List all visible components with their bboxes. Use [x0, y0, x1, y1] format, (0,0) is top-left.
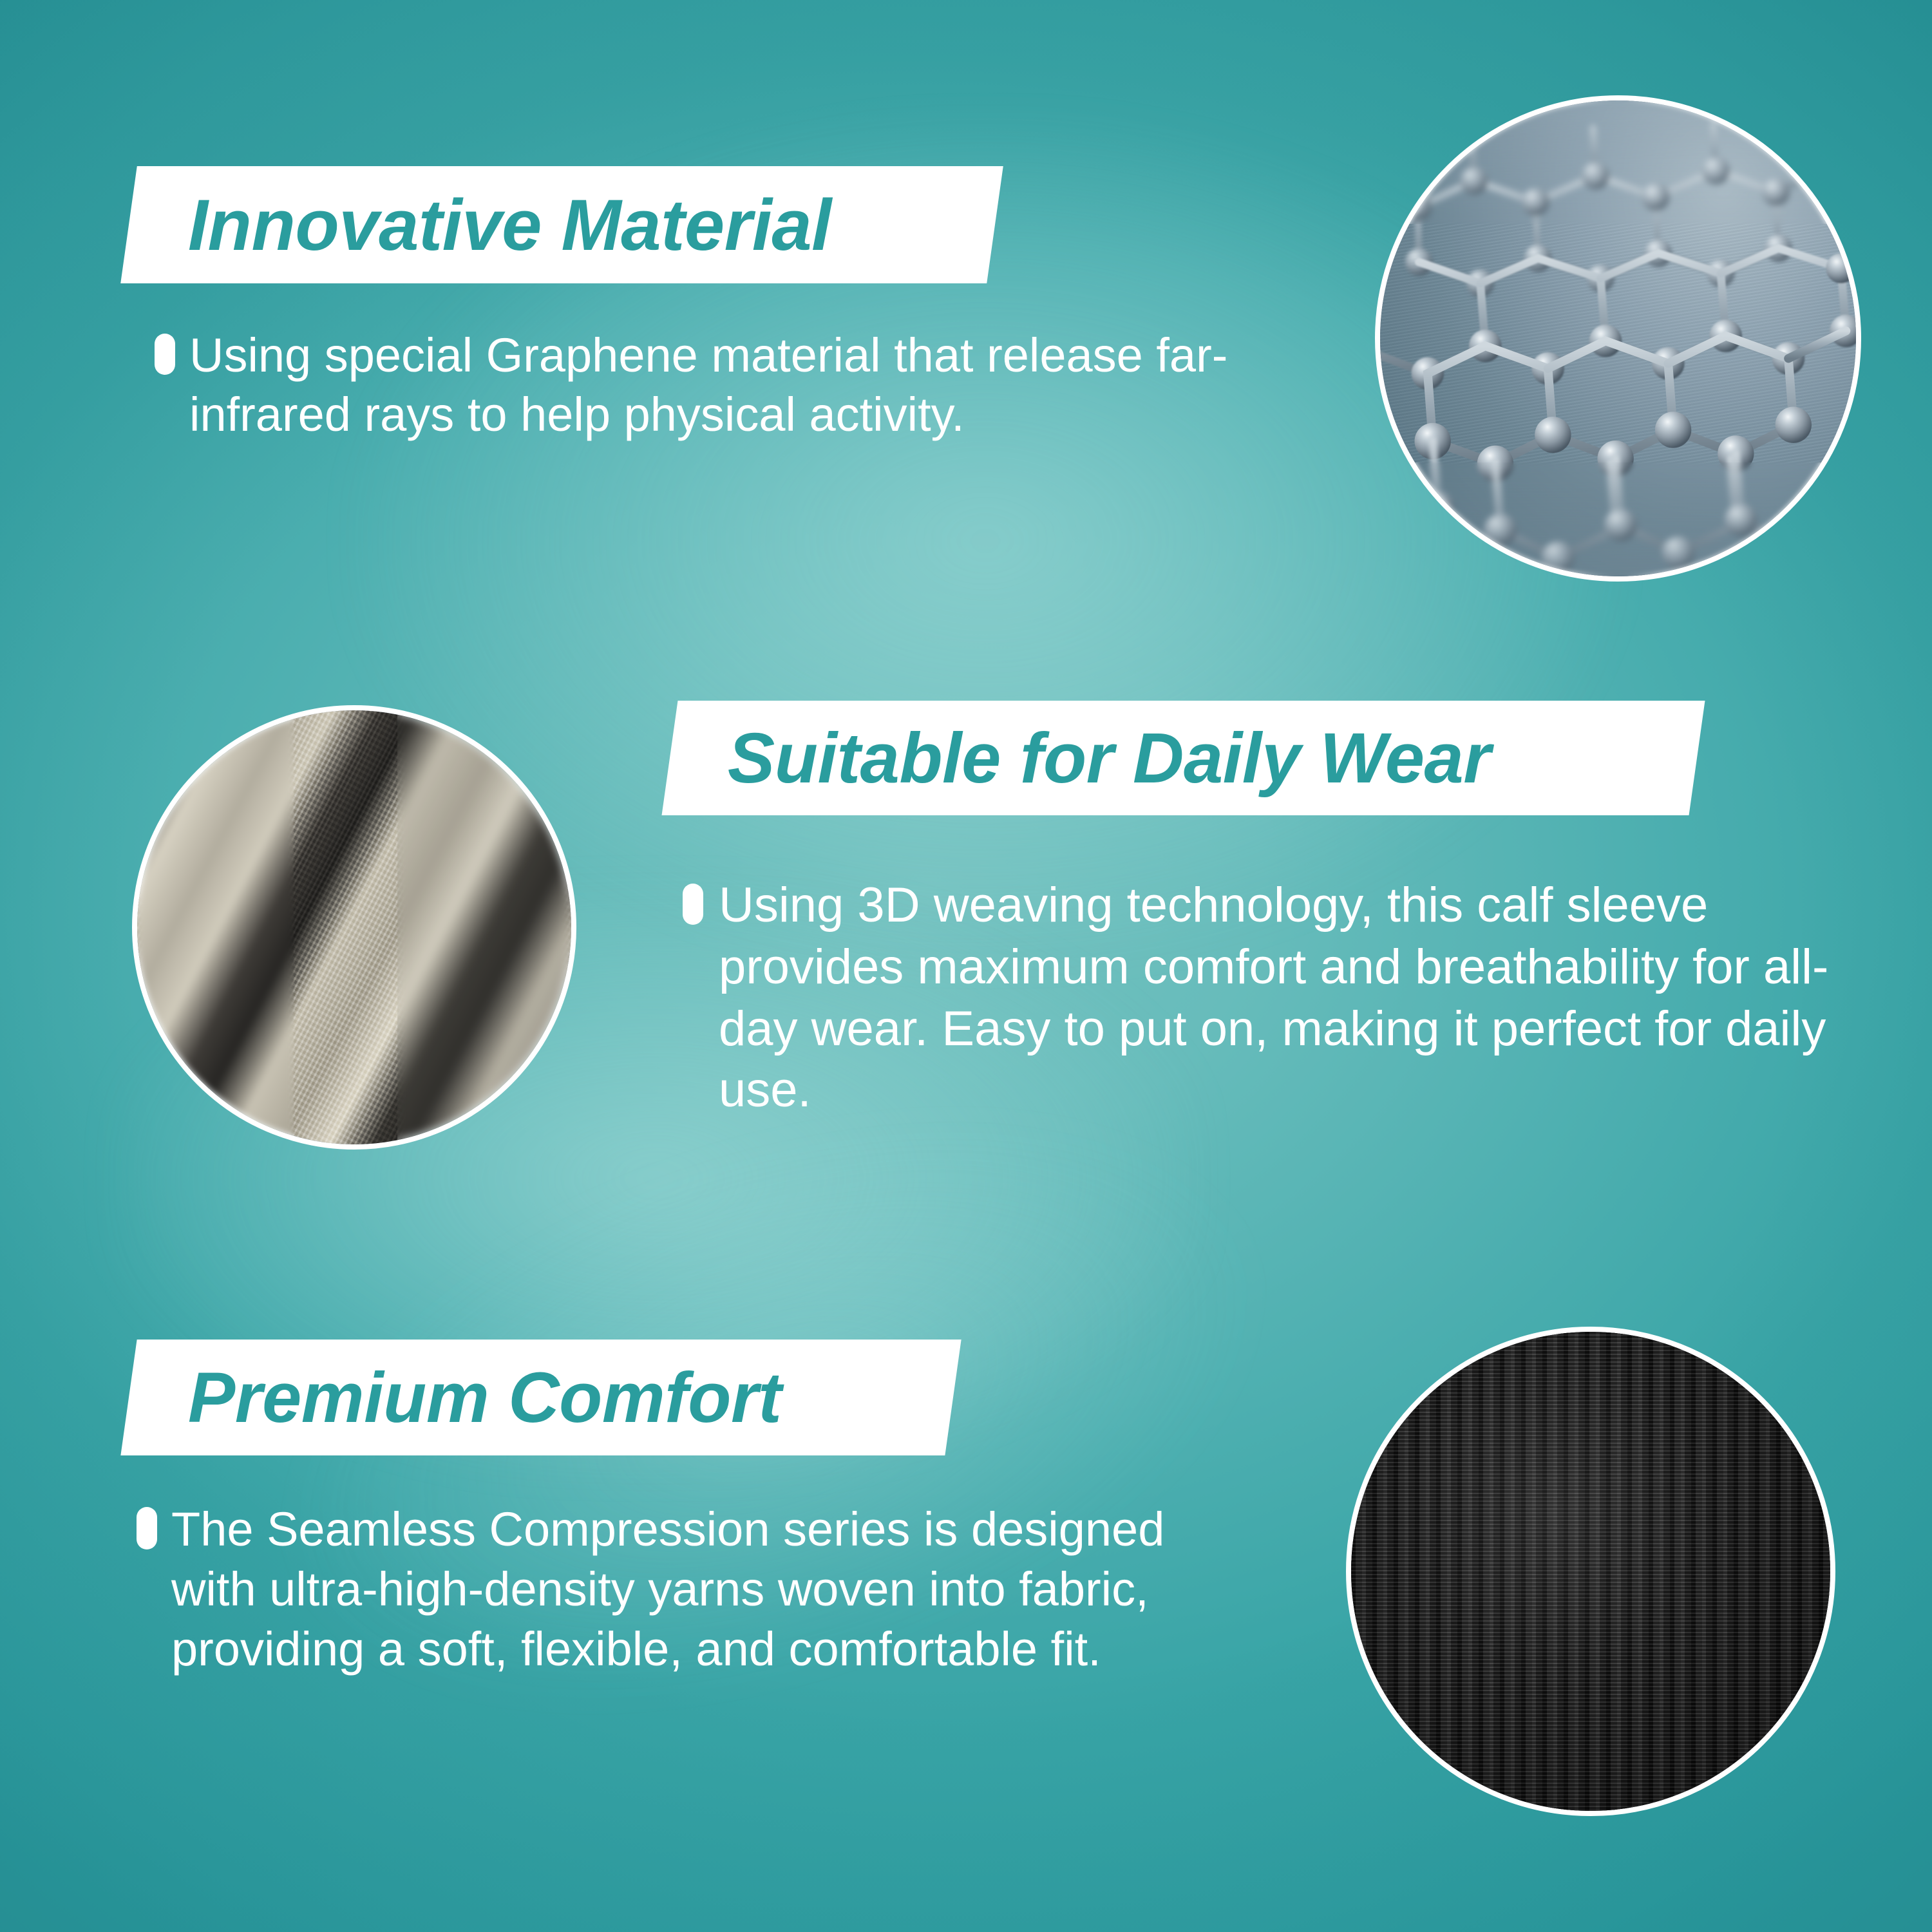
- section-body-text-suitable-for-daily-wear: Using 3D weaving technology, this calf s…: [719, 875, 1884, 1121]
- section-heading-banner-premium-comfort: Premium Comfort: [120, 1340, 961, 1455]
- bullet-pill-icon: [155, 334, 175, 375]
- section-heading-banner-innovative-material: Innovative Material: [120, 166, 1003, 283]
- section-heading-text-premium-comfort: Premium Comfort: [188, 1357, 781, 1439]
- section-heading-banner-suitable-for-daily-wear: Suitable for Daily Wear: [661, 701, 1705, 815]
- graphene-depth-of-field-top: [1380, 100, 1856, 224]
- black-ribbed-fabric-photo: [1346, 1327, 1835, 1816]
- infographic-page: Innovative Material Using special Graphe…: [0, 0, 1932, 1932]
- bullet-pill-icon: [683, 884, 703, 925]
- section-body-text-premium-comfort: The Seamless Compression series is desig…: [171, 1499, 1215, 1680]
- bullet-pill-icon: [137, 1507, 157, 1549]
- section-body-block-innovative-material: Using special Graphene material that rel…: [155, 326, 1288, 444]
- graphene-lattice-photo: [1375, 95, 1861, 582]
- ribbed-fabric-shading: [1351, 1332, 1830, 1811]
- section-heading-text-innovative-material: Innovative Material: [188, 184, 831, 267]
- yarn-depth-of-field-right: [397, 710, 571, 1144]
- section-body-block-premium-comfort: The Seamless Compression series is desig…: [137, 1499, 1270, 1680]
- section-body-block-suitable-for-daily-wear: Using 3D weaving technology, this calf s…: [683, 875, 1893, 1121]
- yarn-depth-of-field-left: [137, 710, 294, 1144]
- section-body-text-innovative-material: Using special Graphene material that rel…: [189, 326, 1245, 444]
- graphene-depth-of-field-bottom: [1380, 462, 1856, 576]
- yarn-macro-photo: [132, 705, 576, 1150]
- section-heading-text-suitable-for-daily-wear: Suitable for Daily Wear: [728, 717, 1491, 799]
